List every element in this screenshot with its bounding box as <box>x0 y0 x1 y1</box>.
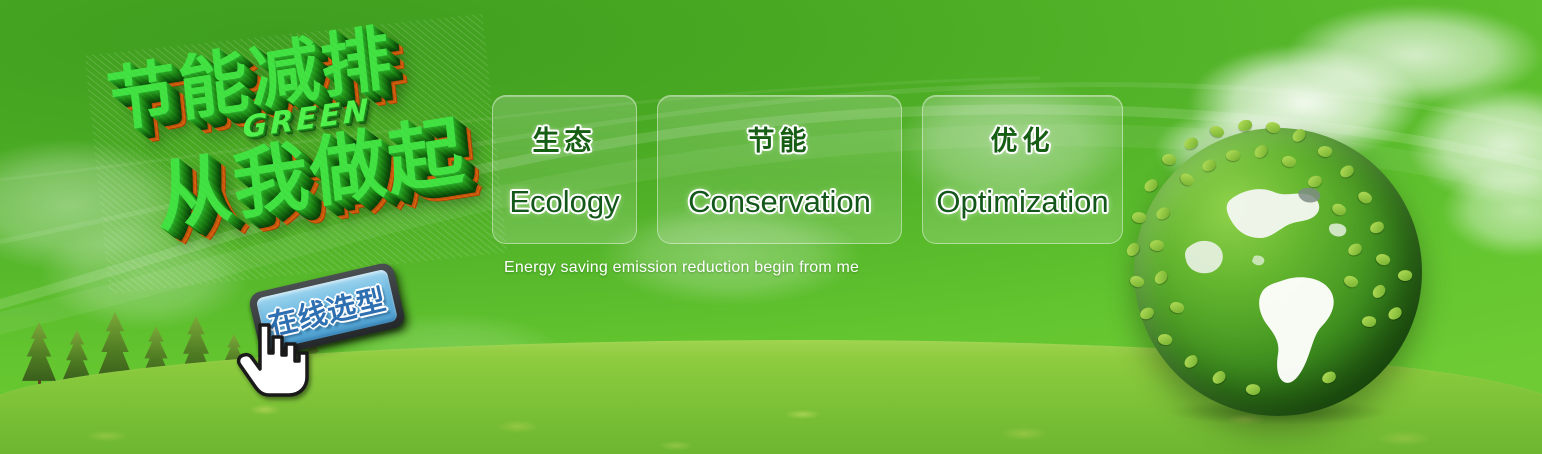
feature-card-group: 生态 Ecology 节能 Conservation 优化 Optimizati… <box>492 95 1123 244</box>
feature-card-ecology[interactable]: 生态 Ecology <box>492 95 637 244</box>
feature-card-conservation-cn: 节能 <box>748 119 812 158</box>
feature-card-optimization[interactable]: 优化 Optimization <box>922 95 1123 244</box>
feature-card-optimization-en: Optimization <box>936 184 1108 220</box>
tagline: Energy saving emission reduction begin f… <box>504 259 859 277</box>
feature-card-optimization-cn: 优化 <box>991 119 1055 158</box>
leaf-covered-earth-globe <box>1134 128 1422 416</box>
feature-card-ecology-cn: 生态 <box>533 119 597 158</box>
globe-continents <box>1134 128 1422 416</box>
feature-card-conservation-en: Conservation <box>688 184 871 220</box>
feature-card-conservation[interactable]: 节能 Conservation <box>657 95 902 244</box>
eco-promo-banner: 节能减排 GREEN 从我做起 在线选型 <box>0 0 1542 454</box>
headline-3d: 节能减排 GREEN 从我做起 <box>85 14 508 294</box>
hand-pointer-icon <box>236 317 310 399</box>
feature-card-ecology-en: Ecology <box>509 184 619 220</box>
headline-line-2: 从我做起 <box>152 112 469 236</box>
globe-sphere <box>1134 128 1422 416</box>
